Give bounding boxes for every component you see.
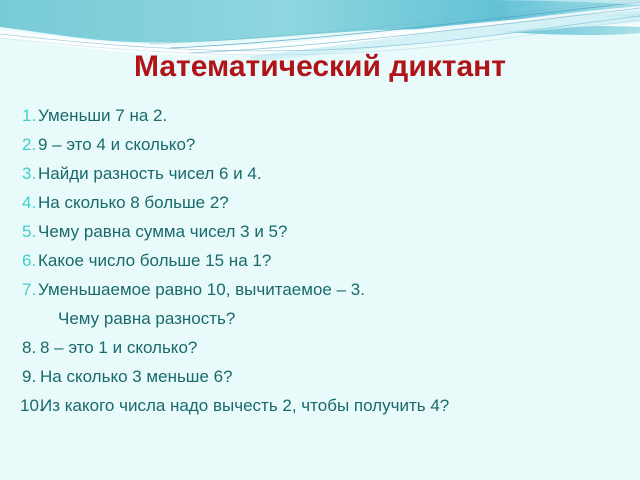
list-item-text: Уменьшаемое равно 10, вычитаемое – 3. — [38, 275, 365, 304]
list-item: 1. Уменьши 7 на 2. — [0, 101, 640, 130]
list-item-text: Из какого числа надо вычесть 2, чтобы по… — [40, 391, 449, 420]
list-item-number: 7. — [0, 275, 38, 304]
list-item-text: 8 – это 1 и сколько? — [40, 333, 197, 362]
list-item-text: 9 – это 4 и сколько? — [38, 130, 195, 159]
page-title: Математический диктант — [0, 49, 640, 85]
list-item-continuation: Чему равна разность? — [0, 304, 640, 333]
list-item-text: Уменьши 7 на 2. — [38, 101, 167, 130]
list-item: 6. Какое число больше 15 на 1? — [0, 246, 640, 275]
list-item: 7. Уменьшаемое равно 10, вычитаемое – 3. — [0, 275, 640, 304]
list-item-text: Найди разность чисел 6 и 4. — [38, 159, 262, 188]
list-item-number: 10. — [0, 391, 40, 420]
list-item-number: 5. — [0, 217, 38, 246]
list-item-number: 3. — [0, 159, 38, 188]
list-item-text: Чему равна разность? — [38, 304, 235, 333]
list-item-text: Какое число больше 15 на 1? — [38, 246, 271, 275]
list-item-number: 9. — [0, 362, 40, 391]
list-item-text: Чему равна сумма чисел 3 и 5? — [38, 217, 287, 246]
list-item: 4. На сколько 8 больше 2? — [0, 188, 640, 217]
list-item-text: На сколько 8 больше 2? — [38, 188, 229, 217]
list-item: 8. 8 – это 1 и сколько? — [0, 333, 640, 362]
list-item-number: 6. — [0, 246, 38, 275]
list-item: 2. 9 – это 4 и сколько? — [0, 130, 640, 159]
list-item-number: 4. — [0, 188, 38, 217]
question-list: 1. Уменьши 7 на 2. 2. 9 – это 4 и скольк… — [0, 101, 640, 420]
list-item: 9. На сколько 3 меньше 6? — [0, 362, 640, 391]
list-item: 3. Найди разность чисел 6 и 4. — [0, 159, 640, 188]
list-item-number: 2. — [0, 130, 38, 159]
list-item-number: 1. — [0, 101, 38, 130]
list-item-text: На сколько 3 меньше 6? — [40, 362, 233, 391]
list-item-number: 8. — [0, 333, 40, 362]
list-item: 5. Чему равна сумма чисел 3 и 5? — [0, 217, 640, 246]
slide-canvas: Математический диктант 1. Уменьши 7 на 2… — [0, 0, 640, 480]
list-item: 10. Из какого числа надо вычесть 2, чтоб… — [0, 391, 640, 420]
